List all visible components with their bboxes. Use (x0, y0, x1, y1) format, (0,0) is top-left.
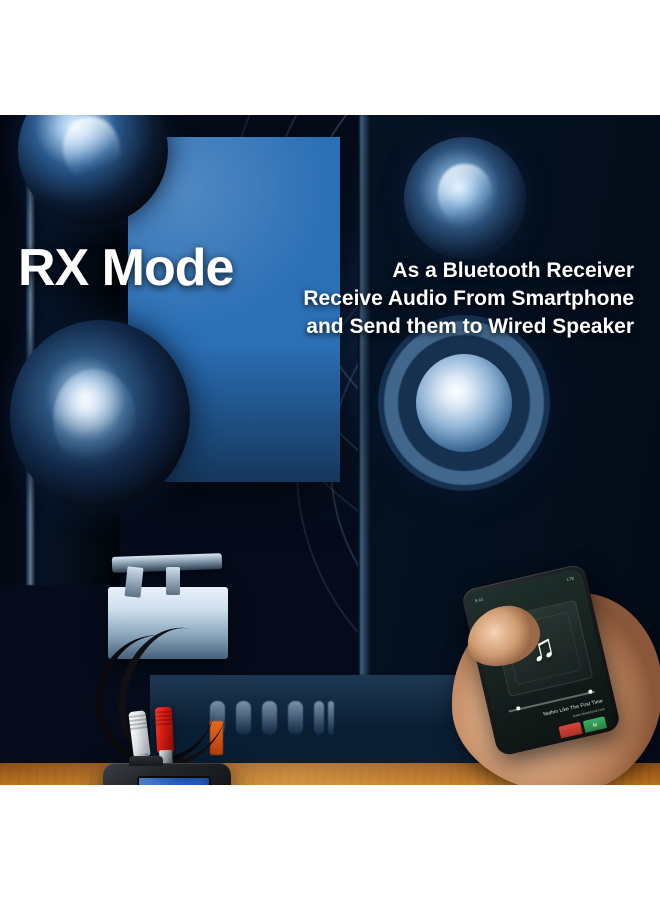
product-photo: 9:41 LTE ♫ Nothin Like The First Time ww… (0, 115, 660, 785)
hero-title: RX Mode (18, 242, 233, 294)
progress-handle[interactable] (516, 706, 521, 711)
plug-ridges (129, 714, 148, 730)
chip-green[interactable]: M (583, 716, 608, 735)
right-woofer (378, 315, 550, 491)
subtitle-block: As a Bluetooth Receiver Receive Audio Fr… (303, 257, 634, 341)
subtitle-line-2: Receive Audio From Smartphone (303, 285, 634, 313)
tonearm-support-right (166, 567, 180, 595)
product-banner-page: 9:41 LTE ♫ Nothin Like The First Time ww… (0, 0, 660, 900)
tonearm-support-left (124, 566, 143, 598)
status-network: LTE (566, 575, 575, 582)
device-top-connector (129, 756, 163, 766)
cabinet-edge-highlight (360, 115, 370, 675)
red-rca-plug (155, 707, 174, 754)
plug-ridges (155, 711, 173, 726)
status-time: 9:41 (474, 596, 483, 603)
amp-knob (262, 701, 277, 735)
subtitle-line-1: As a Bluetooth Receiver (303, 257, 634, 285)
device-lcd-screen: Rx BT Samsung S22 (137, 776, 211, 785)
amp-knob (288, 701, 303, 735)
bluetooth-adapter-device[interactable]: RX TX Rx BT Samsung S22 Normal Classic P… (103, 763, 231, 785)
left-woofer (10, 320, 190, 510)
amp-knob (328, 701, 334, 735)
right-tweeter (404, 137, 526, 259)
progress-end-marker (588, 689, 593, 694)
amp-knob (314, 701, 324, 735)
woofer-cone (416, 354, 512, 453)
subtitle-line-3: and Send them to Wired Speaker (303, 313, 634, 341)
chip-red[interactable] (558, 722, 583, 741)
amp-knob (236, 701, 251, 735)
